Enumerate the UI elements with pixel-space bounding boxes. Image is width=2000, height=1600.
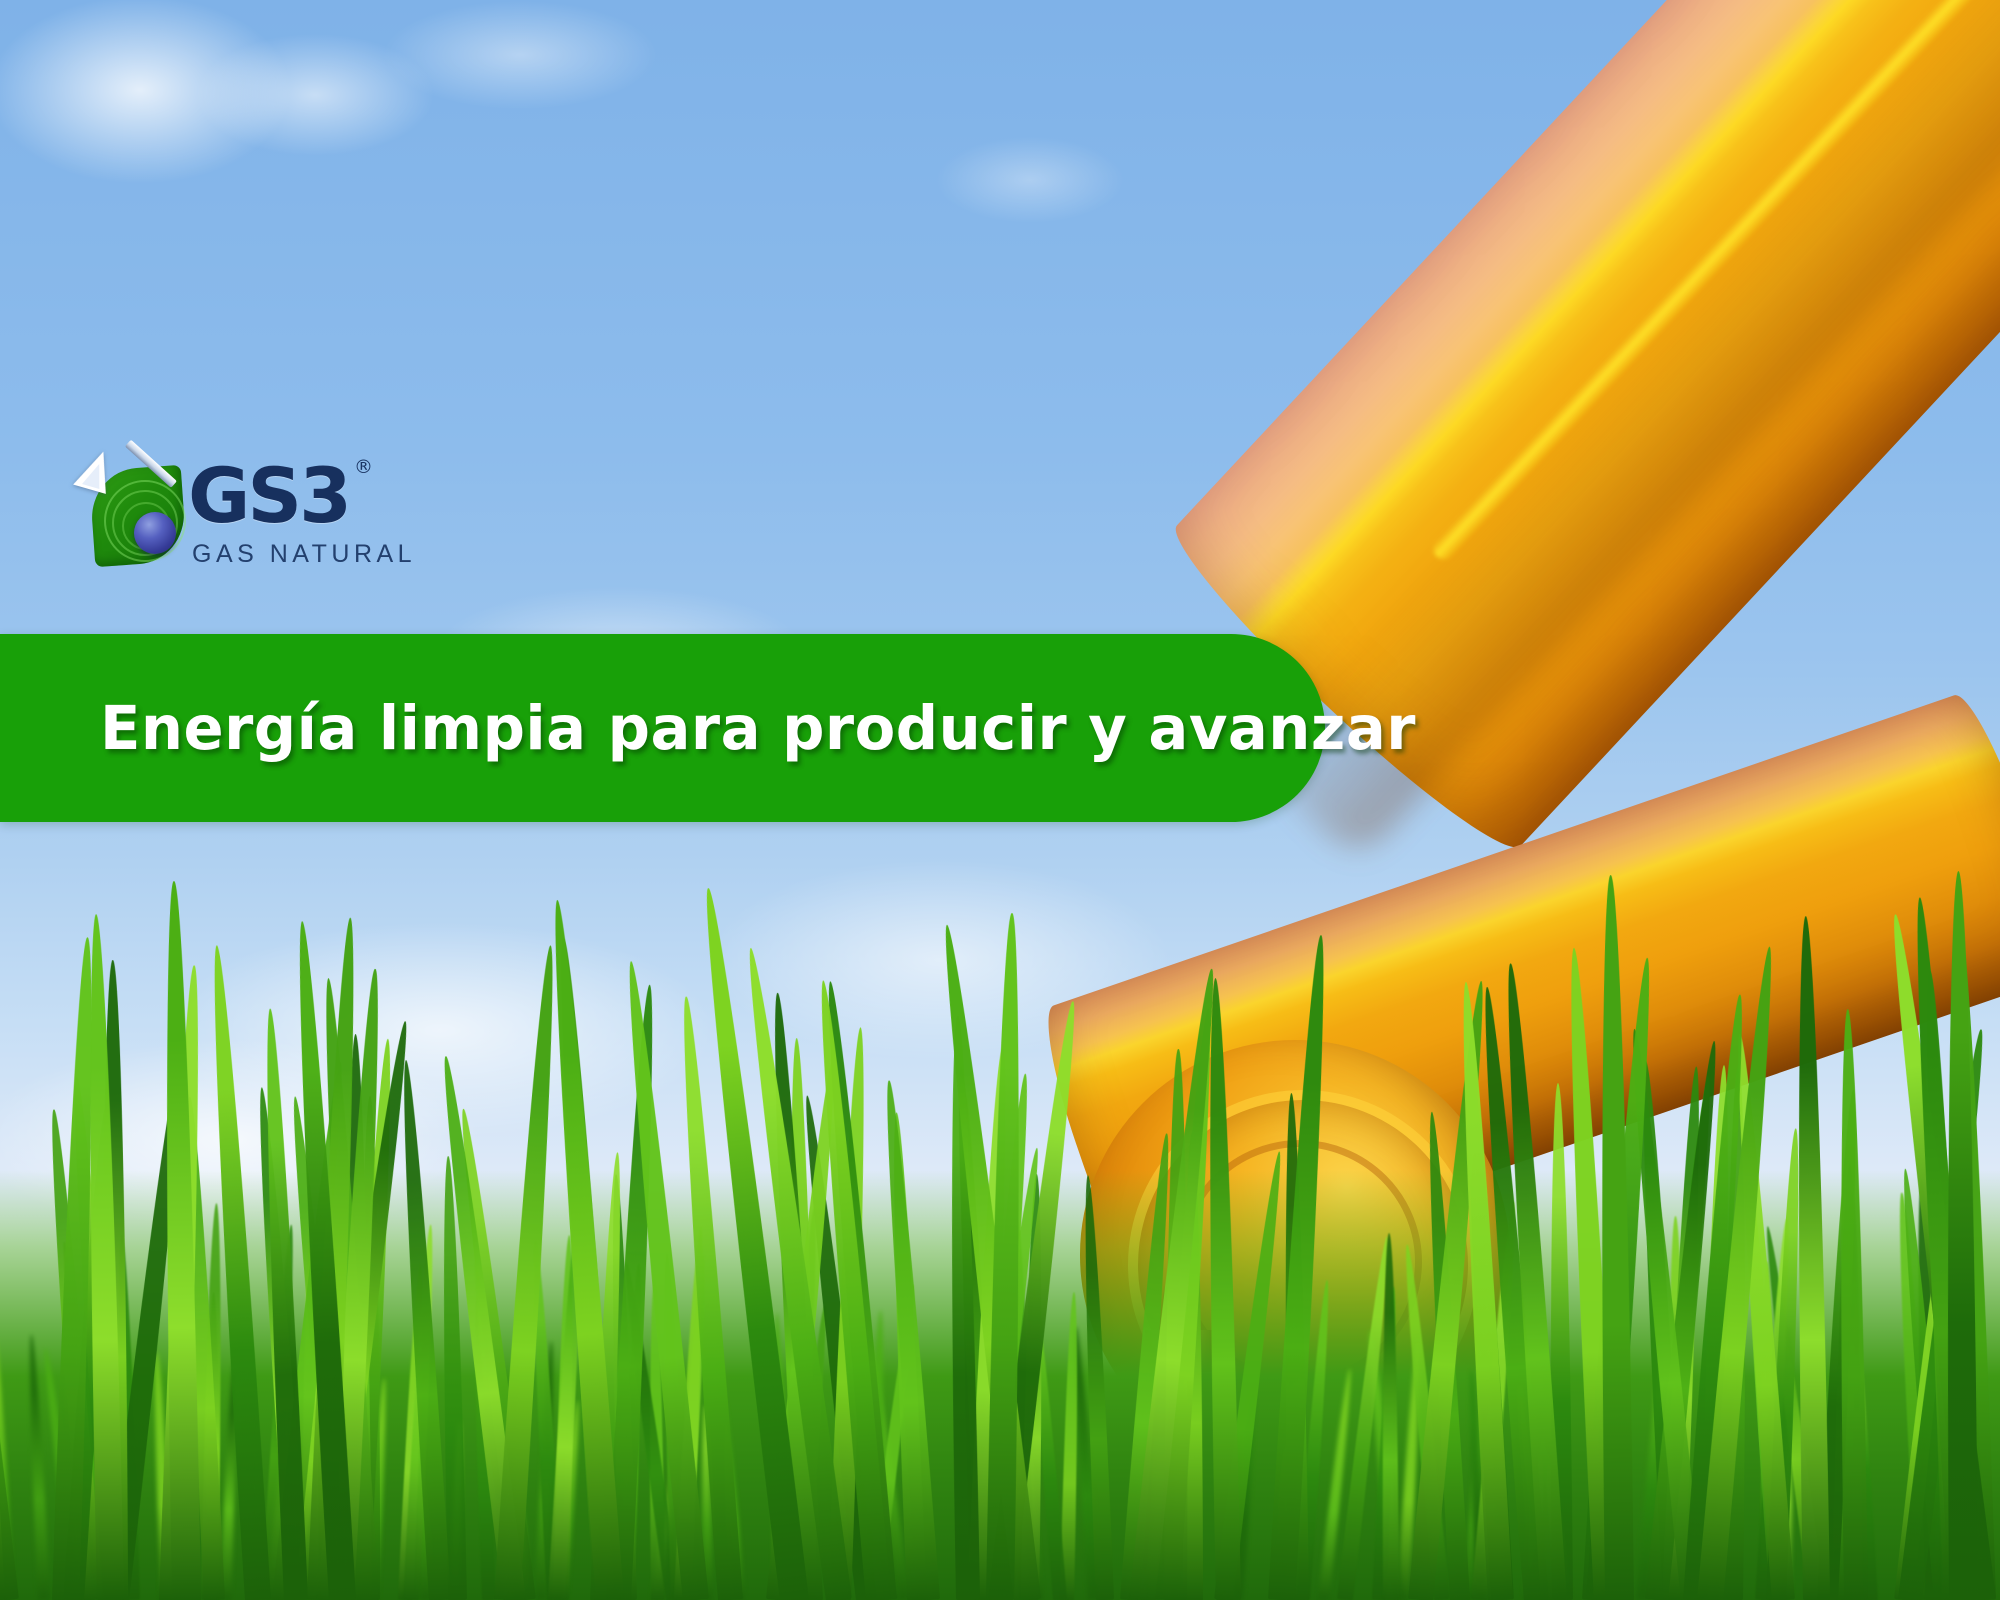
- brand-name: GS3: [188, 458, 349, 534]
- registered-trademark-icon: ®: [354, 456, 373, 478]
- marketing-banner-canvas: GS3 ® GAS NATURAL Energía limpia para pr…: [0, 0, 2000, 1600]
- brand-logo[interactable]: GS3 ® GAS NATURAL: [78, 448, 348, 573]
- brand-tagline: GAS NATURAL: [192, 540, 416, 569]
- brand-wordmark: GS3 ® GAS NATURAL: [188, 448, 418, 566]
- headline-banner: Energía limpia para producir y avanzar: [0, 634, 1325, 822]
- headline-text: Energía limpia para producir y avanzar: [100, 693, 1416, 764]
- leaf-arrow-sphere-icon: [78, 450, 186, 568]
- sphere-icon: [134, 512, 176, 554]
